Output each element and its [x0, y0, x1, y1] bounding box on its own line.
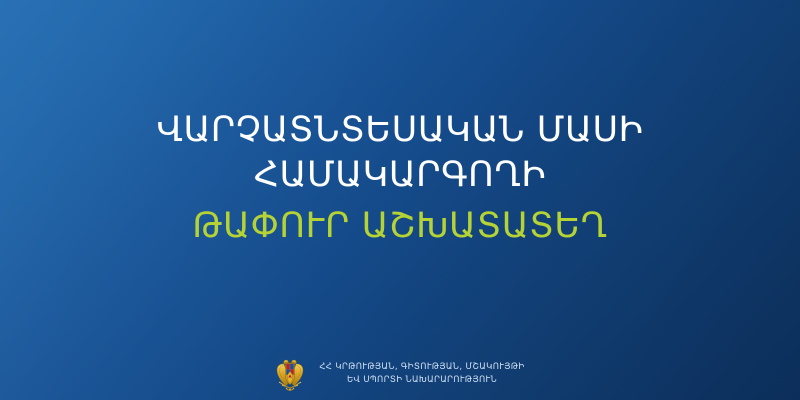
ministry-name-line-2: ԵՎ ՍՊՈՐՏԻ ՆԱԽԱՐԱՐՈՒԹՅՈՒՆ — [347, 375, 497, 386]
vacancy-announcement-banner: ՎԱՐՉԱՏՆՏԵՍԱԿԱՆ ՄԱՍԻ ՀԱՄԱԿԱՐԳՈՂԻ ԹԱՓՈՒՐ Ա… — [0, 0, 800, 400]
headline-line-2: ՀԱՄԱԿԱՐԳՈՂԻ — [40, 153, 760, 198]
armenia-coat-of-arms-icon — [275, 356, 305, 392]
headline-line-3-vacancy: ԹԱՓՈՒՐ ԱՇԽԱՏԱՏԵՂ — [40, 204, 760, 249]
ministry-name-line-1: ՀՀ ԿՐԹՈՒԹՅԱՆ, ԳԻՏՈՒԹՅԱՆ, ՄՇԱԿՈՒՅԹԻ — [319, 362, 524, 373]
ministry-name: ՀՀ ԿՐԹՈՒԹՅԱՆ, ԳԻՏՈՒԹՅԱՆ, ՄՇԱԿՈՒՅԹԻ ԵՎ ՍՊ… — [319, 362, 524, 386]
headline-block: ՎԱՐՉԱՏՆՏԵՍԱԿԱՆ ՄԱՍԻ ՀԱՄԱԿԱՐԳՈՂԻ ԹԱՓՈՒՐ Ա… — [0, 108, 800, 249]
headline-line-1: ՎԱՐՉԱՏՆՏԵՍԱԿԱՆ ՄԱՍԻ — [40, 108, 760, 153]
ministry-footer: ՀՀ ԿՐԹՈՒԹՅԱՆ, ԳԻՏՈՒԹՅԱՆ, ՄՇԱԿՈՒՅԹԻ ԵՎ ՍՊ… — [0, 356, 800, 392]
